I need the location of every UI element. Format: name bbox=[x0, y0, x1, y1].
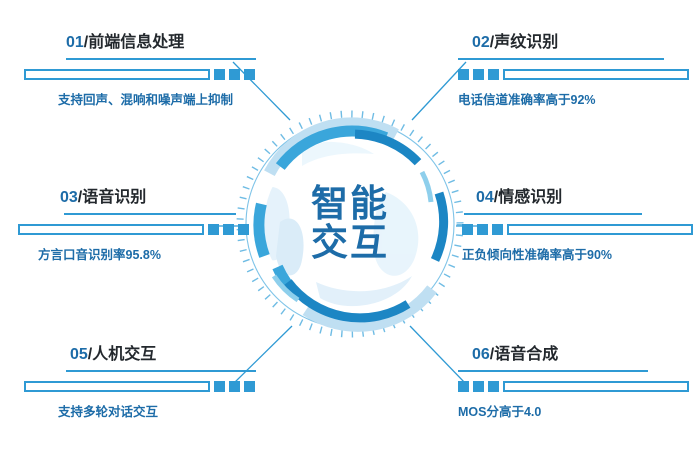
item-04-square-3 bbox=[492, 224, 503, 235]
item-06-square-3 bbox=[488, 381, 499, 392]
item-05-square-3 bbox=[244, 381, 255, 392]
item-06-title: 语音合成 bbox=[494, 346, 558, 363]
item-03-heading: 03/语音识别 bbox=[60, 183, 268, 207]
info-item-05[interactable]: 05/人机交互 支持多轮对话交互 bbox=[24, 340, 274, 420]
info-item-03[interactable]: 03/语音识别 方言口音识别率95.8% bbox=[18, 183, 268, 263]
item-01-bar-track bbox=[24, 69, 210, 80]
item-03-square-1 bbox=[208, 224, 219, 235]
item-04-number: 04 bbox=[476, 189, 494, 206]
item-01-description: 支持回声、混响和噪声端上抑制 bbox=[58, 89, 274, 108]
item-04-bar-track bbox=[507, 224, 693, 235]
item-01-square-3 bbox=[244, 69, 255, 80]
item-03-title: 语音识别 bbox=[82, 189, 146, 206]
item-01-square-1 bbox=[214, 69, 225, 80]
info-item-01[interactable]: 01/前端信息处理 支持回声、混响和噪声端上抑制 bbox=[24, 28, 274, 108]
item-03-square-3 bbox=[238, 224, 249, 235]
item-02-number: 02 bbox=[472, 34, 490, 51]
item-05-number: 05 bbox=[70, 346, 88, 363]
center-title-line-1: 智能 bbox=[311, 185, 389, 224]
item-05-square-2 bbox=[229, 381, 240, 392]
item-03-number: 03 bbox=[60, 189, 78, 206]
item-04-square-1 bbox=[462, 224, 473, 235]
item-03-square-2 bbox=[223, 224, 234, 235]
item-05-bar bbox=[24, 381, 274, 392]
item-03-rule bbox=[64, 213, 236, 215]
item-05-square-1 bbox=[214, 381, 225, 392]
item-05-heading: 05/人机交互 bbox=[70, 340, 274, 364]
center-title: 智能 交互 bbox=[236, 110, 464, 338]
item-01-heading: 01/前端信息处理 bbox=[66, 28, 274, 52]
item-02-square-1 bbox=[458, 69, 469, 80]
item-04-rule bbox=[464, 213, 642, 215]
item-06-bar bbox=[458, 381, 700, 392]
item-06-rule bbox=[458, 370, 648, 372]
item-04-description: 正负倾向性准确率高于90% bbox=[462, 244, 700, 263]
item-05-bar-track bbox=[24, 381, 210, 392]
item-06-description: MOS分高于4.0 bbox=[458, 401, 700, 420]
item-06-square-2 bbox=[473, 381, 484, 392]
item-05-description: 支持多轮对话交互 bbox=[58, 401, 274, 420]
item-06-square-1 bbox=[458, 381, 469, 392]
item-05-title: 人机交互 bbox=[92, 346, 156, 363]
center-emblem: 智能 交互 bbox=[236, 110, 464, 338]
item-04-title: 情感识别 bbox=[498, 189, 562, 206]
info-item-04[interactable]: 04/情感识别 正负倾向性准确率高于90% bbox=[462, 183, 700, 263]
item-06-bar-track bbox=[503, 381, 689, 392]
item-02-square-2 bbox=[473, 69, 484, 80]
center-title-line-2: 交互 bbox=[311, 224, 389, 263]
item-03-bar-track bbox=[18, 224, 204, 235]
item-06-heading: 06/语音合成 bbox=[472, 340, 700, 364]
info-item-02[interactable]: 02/声纹识别 电话信道准确率高于92% bbox=[458, 28, 700, 108]
item-02-bar bbox=[458, 69, 700, 80]
item-01-square-2 bbox=[229, 69, 240, 80]
item-04-bar bbox=[462, 224, 700, 235]
item-01-title: 前端信息处理 bbox=[88, 34, 184, 51]
item-04-heading: 04/情感识别 bbox=[476, 183, 700, 207]
item-01-rule bbox=[66, 58, 256, 60]
info-item-06[interactable]: 06/语音合成 MOS分高于4.0 bbox=[458, 340, 700, 420]
infographic-canvas: 智能 交互 01/前端信息处理 支持回声、混响和噪声端上抑制 02/声纹识别 电… bbox=[0, 0, 700, 467]
item-06-number: 06 bbox=[472, 346, 490, 363]
item-03-bar bbox=[18, 224, 268, 235]
item-05-rule bbox=[66, 370, 256, 372]
item-01-number: 01 bbox=[66, 34, 84, 51]
item-02-square-3 bbox=[488, 69, 499, 80]
item-03-description: 方言口音识别率95.8% bbox=[38, 244, 268, 263]
item-02-description: 电话信道准确率高于92% bbox=[458, 89, 700, 108]
item-02-heading: 02/声纹识别 bbox=[472, 28, 700, 52]
item-02-bar-track bbox=[503, 69, 689, 80]
item-02-title: 声纹识别 bbox=[494, 34, 558, 51]
item-04-square-2 bbox=[477, 224, 488, 235]
item-01-bar bbox=[24, 69, 274, 80]
item-02-rule bbox=[458, 58, 664, 60]
